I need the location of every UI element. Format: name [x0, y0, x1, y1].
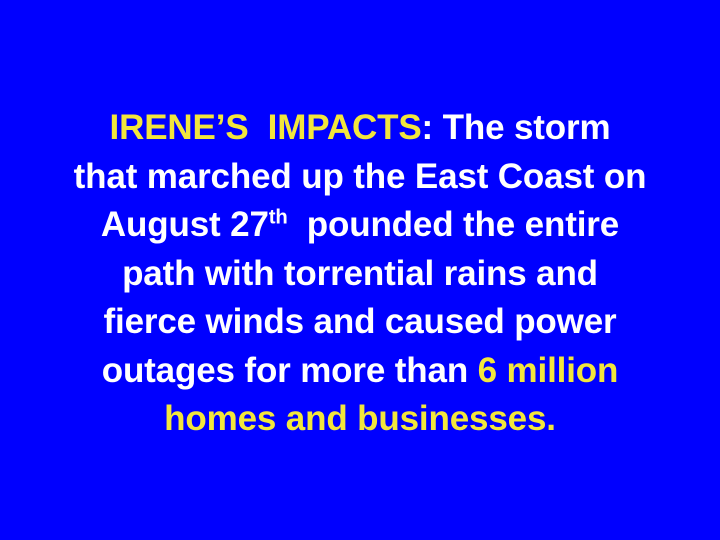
slide-text-superscript: th: [269, 206, 288, 228]
slide-text-highlight: homes and businesses.: [164, 399, 556, 438]
slide-text-line: fierce winds and caused power: [0, 298, 720, 347]
slide-text-line: that marched up the East Coast on: [0, 153, 720, 202]
slide-text-line: path with torrential rains and: [0, 250, 720, 299]
slide-text-plain: August 27: [101, 205, 269, 244]
slide-text-plain: that marched up the East Coast on: [74, 157, 647, 196]
presentation-slide: IRENE’S IMPACTS: The stormthat marched u…: [0, 0, 720, 540]
slide-text-plain: path with torrential rains and: [122, 254, 598, 293]
slide-text-highlight: 6 million: [478, 351, 619, 390]
slide-text-line: homes and businesses.: [0, 395, 720, 444]
slide-text-line: outages for more than 6 million: [0, 347, 720, 396]
slide-text-line: August 27th pounded the entire: [0, 201, 720, 250]
slide-text-block: IRENE’S IMPACTS: The stormthat marched u…: [0, 104, 720, 444]
slide-text-highlight: IRENE’S IMPACTS: [110, 108, 422, 147]
slide-text-plain: outages for more than: [102, 351, 478, 390]
slide-text-plain: pounded the entire: [288, 205, 619, 244]
slide-text-line: IRENE’S IMPACTS: The storm: [0, 104, 720, 153]
slide-text-plain: fierce winds and caused power: [103, 302, 616, 341]
slide-text-plain: : The storm: [422, 108, 611, 147]
